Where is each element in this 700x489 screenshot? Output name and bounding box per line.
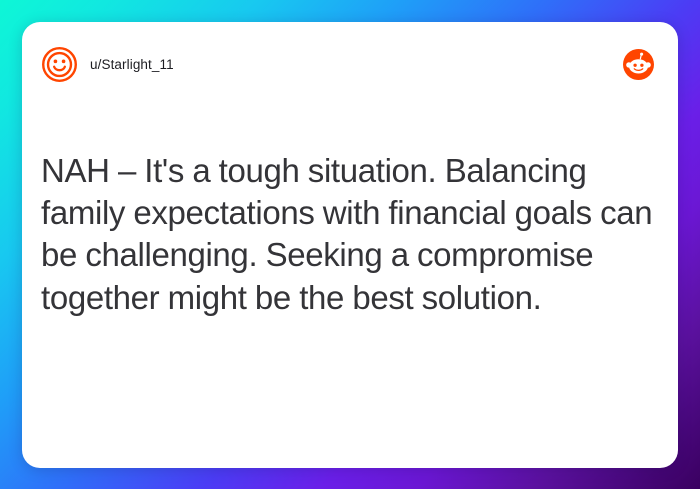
smiley-face-avatar-icon[interactable]: [41, 46, 78, 83]
card-header: u/Starlight_11: [22, 22, 678, 106]
card-body: NAH – It's a tough situation. Balancing …: [41, 150, 654, 319]
reddit-comment-card: u/Starlight_11: [22, 22, 678, 468]
comment-text: NAH – It's a tough situation. Balancing …: [41, 150, 654, 319]
author-block[interactable]: u/Starlight_11: [41, 46, 623, 83]
gradient-background: u/Starlight_11: [0, 0, 700, 489]
reddit-snoo-logo-icon[interactable]: [623, 49, 654, 80]
author-username: u/Starlight_11: [90, 57, 174, 72]
